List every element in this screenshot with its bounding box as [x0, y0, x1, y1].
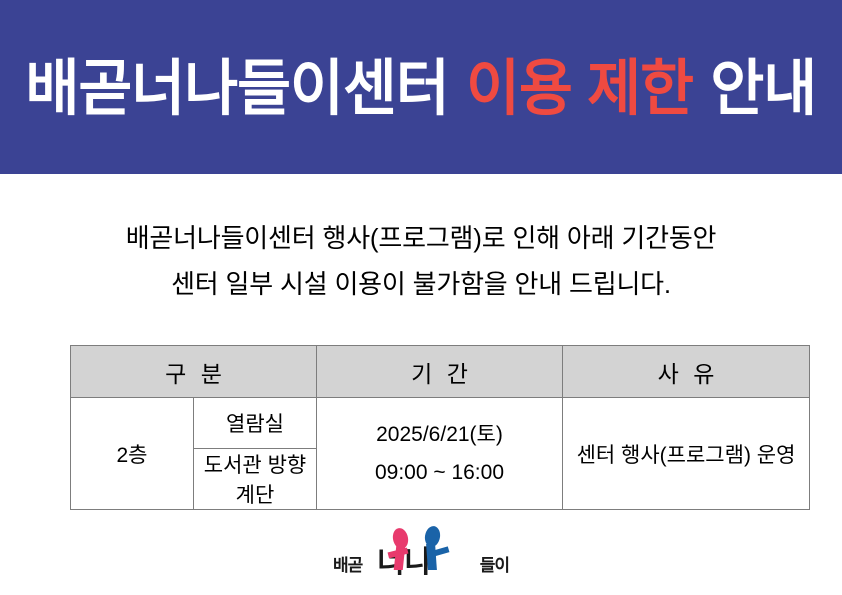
title-segment-notice: 안내 [711, 54, 817, 122]
restriction-table-wrapper: 구 분 기 간 사 유 2층 열람실 2025/6/21(토) 09:00 ~ … [70, 345, 806, 510]
page-title: 배곧너나들이센터이용 제한안내 [26, 58, 817, 119]
logo-text-left: 배곧 [333, 557, 362, 574]
cell-period: 2025/6/21(토) 09:00 ~ 16:00 [317, 398, 563, 510]
table-header-row: 구 분 기 간 사 유 [71, 346, 810, 398]
period-time: 09:00 ~ 16:00 [317, 454, 562, 492]
period-date: 2025/6/21(토) [317, 416, 562, 454]
table-body: 2층 열람실 2025/6/21(토) 09:00 ~ 16:00 센터 행사(… [71, 398, 810, 510]
notice-line-2: 센터 일부 시설 이용이 불가함을 안내 드립니다. [0, 261, 842, 307]
cell-reason: 센터 행사(프로그램) 운영 [563, 398, 810, 510]
restriction-table: 구 분 기 간 사 유 2층 열람실 2025/6/21(토) 09:00 ~ … [70, 345, 810, 510]
baegot-neonadeuri-logo-icon: 배곧 너나 들이 [333, 526, 509, 578]
column-header-period: 기 간 [317, 346, 563, 398]
notice-line-1: 배곧너나들이센터 행사(프로그램)로 인해 아래 기간동안 [0, 215, 842, 261]
notice-paragraph: 배곧너나들이센터 행사(프로그램)로 인해 아래 기간동안 센터 일부 시설 이… [0, 215, 842, 307]
header-banner: 배곧너나들이센터이용 제한안내 [0, 0, 842, 174]
cell-floor: 2층 [71, 398, 194, 510]
column-header-category: 구 분 [71, 346, 317, 398]
table-row: 2층 열람실 2025/6/21(토) 09:00 ~ 16:00 센터 행사(… [71, 398, 810, 449]
table-head: 구 분 기 간 사 유 [71, 346, 810, 398]
title-segment-center-name: 배곧너나들이센터 [26, 54, 449, 122]
logo-text-right: 들이 [480, 557, 509, 574]
column-header-reason: 사 유 [563, 346, 810, 398]
cell-place-library-stairs: 도서관 방향 계단 [194, 449, 317, 510]
title-segment-restriction: 이용 제한 [466, 54, 693, 122]
cell-place-reading-room: 열람실 [194, 398, 317, 449]
footer-logo: 배곧 너나 들이 [0, 526, 842, 578]
